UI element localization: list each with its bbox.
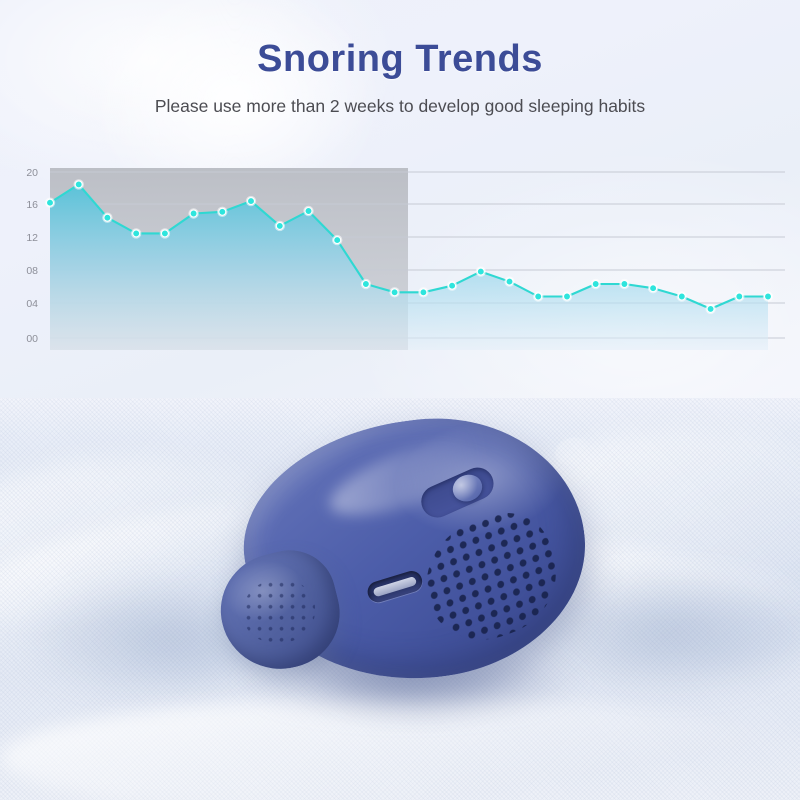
chart-data-point <box>678 293 685 300</box>
chart-data-point <box>707 305 714 312</box>
page-subtitle: Please use more than 2 weeks to develop … <box>0 96 800 117</box>
chart-data-point <box>161 230 168 237</box>
chart-data-point <box>248 198 255 205</box>
product-photo <box>0 398 800 800</box>
chart-data-point <box>736 293 743 300</box>
chart-data-point <box>506 278 513 285</box>
chart-data-point <box>362 281 369 288</box>
chart-data-point <box>276 222 283 229</box>
anti-snoring-device <box>215 403 615 743</box>
chart-data-point <box>190 210 197 217</box>
chart-data-point <box>477 268 484 275</box>
chart-data-point <box>449 282 456 289</box>
left-cap-vent-holes <box>243 579 315 643</box>
chart-data-point <box>104 214 111 221</box>
usb-c-port <box>365 568 425 604</box>
chart-data-point <box>47 199 54 206</box>
chart-data-point <box>305 208 312 215</box>
chart-data-point <box>219 208 226 215</box>
svg-text:12: 12 <box>26 232 38 244</box>
svg-text:04: 04 <box>26 298 38 310</box>
power-button[interactable] <box>448 470 486 506</box>
y-axis-tick-labels: 20 16 12 08 04 00 <box>26 167 38 345</box>
chart-data-point <box>564 293 571 300</box>
chart-data-point <box>621 281 628 288</box>
chart-data-point <box>420 289 427 296</box>
trends-panel: Snoring Trends Please use more than 2 we… <box>0 0 800 400</box>
chart-data-point <box>334 237 341 244</box>
chart-data-point <box>535 293 542 300</box>
chart-data-point <box>391 289 398 296</box>
chart-data-point <box>75 181 82 188</box>
chart-data-point <box>592 281 599 288</box>
svg-text:00: 00 <box>26 333 38 345</box>
page-title: Snoring Trends <box>0 38 800 81</box>
svg-text:20: 20 <box>26 167 38 179</box>
chart-data-point <box>765 293 772 300</box>
svg-text:08: 08 <box>26 265 38 277</box>
snoring-trends-chart: 20 16 12 08 04 00 Before Use After Use <box>0 160 800 360</box>
svg-text:16: 16 <box>26 199 38 211</box>
chart-svg: 20 16 12 08 04 00 <box>0 160 800 360</box>
vent-holes-grid <box>414 498 567 658</box>
chart-data-point <box>650 285 657 292</box>
device-seam-notch <box>551 433 592 470</box>
chart-data-point <box>133 230 140 237</box>
